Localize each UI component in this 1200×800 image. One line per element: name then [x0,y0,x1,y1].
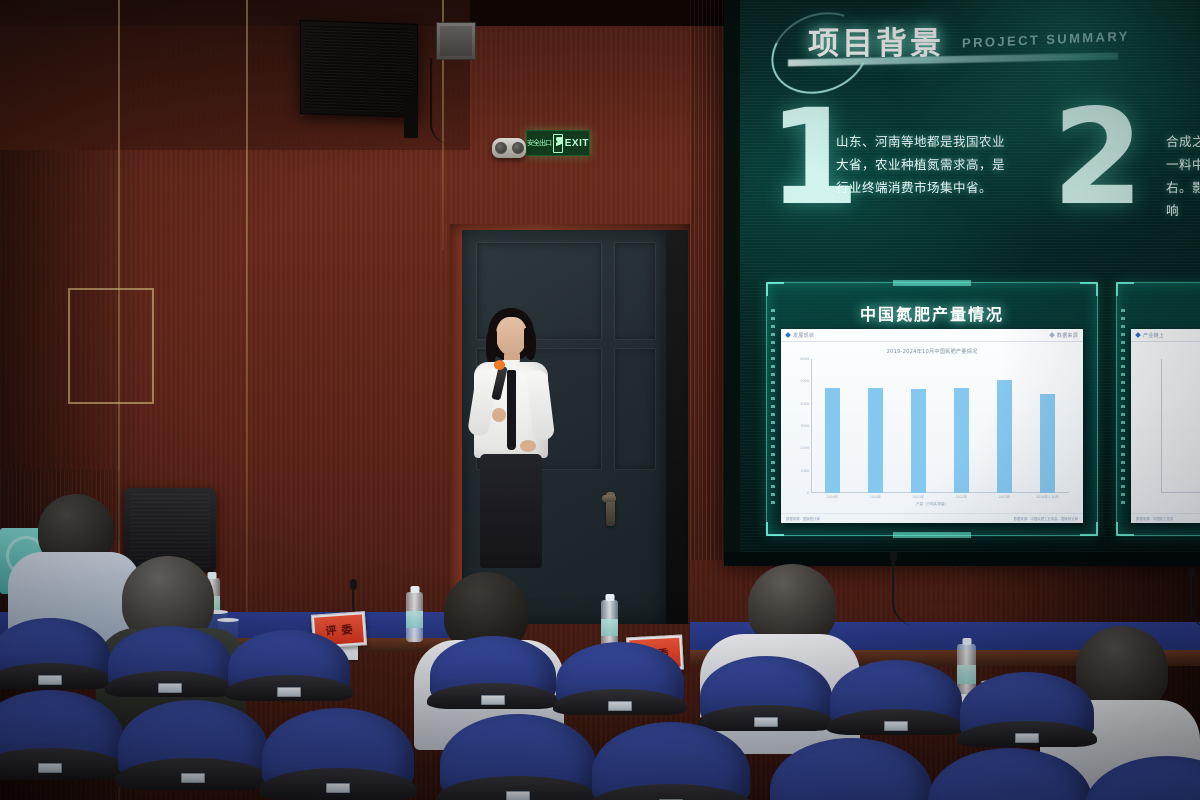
y-axis-tick: 0 [807,491,809,495]
auditorium-seat[interactable] [118,700,268,778]
x-axis-tick: 2021年 [913,494,925,499]
card-side-ticks [771,309,775,509]
auditorium-seat[interactable] [700,656,832,722]
chart-bar [868,388,883,493]
exit-sign-label-en: EXIT [565,138,589,149]
point-text: 合成之一料中右。影响 [1166,130,1200,223]
y-axis-tick: 2000 [800,446,809,450]
chart-bar [825,388,840,493]
sheet-footer-2: 数据来源：中国化工信息 [1131,513,1200,523]
report-sheet: 发展现状 数据来源 2019-2024年10月中国氮肥产量情况 01000200… [781,329,1083,523]
y-axis-tick: 4000 [800,402,809,406]
auditorium-seat[interactable] [1084,756,1200,800]
auditorium-seat[interactable] [556,642,684,706]
sheet-header-2: 产业链上 [1131,329,1200,342]
auditorium-seat[interactable] [0,690,124,768]
presenter-skirt [480,454,542,568]
footer-source-right: 数据来源：中国氮肥工业协会、国家统计局 [1014,516,1078,521]
chart-bar [954,388,969,493]
chart-title: 2019-2024年10月中国氮肥产量情况 [781,348,1083,355]
sheet-corner-label: 数据来源 [1050,332,1078,339]
chart-card-1: 中国氮肥产量情况 发展现状 数据来源 2019-2024年10月中国氮肥产量情况 [766,282,1098,536]
x-axis-tick: 2022年 [956,494,968,499]
diamond-bullet-icon [1049,332,1055,338]
card-notch-top [893,280,971,286]
diamond-bullet-icon [1135,332,1141,338]
door-gap [666,230,688,624]
gooseneck-microphone[interactable] [892,556,920,626]
auditorium-seat[interactable] [108,626,232,688]
wall-trim-rectangle [68,288,154,404]
point-text: 山东、河南等地都是我国农业大省，农业种植氮需求高，是行业终端消费市场集中省。 [836,130,1014,199]
card-notch-bottom [893,532,971,538]
slide-header: 项目背景 PROJECT SUMMARY [740,0,1200,82]
wall-panel-plate [436,22,476,60]
sheet-section-label: 发展现状 [786,332,814,339]
wall-seam [246,0,248,640]
auditorium-seat[interactable] [0,618,110,680]
microphone-head [494,360,505,370]
presenter-face [496,317,527,356]
chart-bar [997,380,1012,493]
slide-title-cn: 项目背景 [808,18,944,63]
wall-speaker [300,20,418,118]
chart-bar [911,389,926,493]
report-sheet-2: 产业链上 数据来源：中国化工信息 [1131,329,1200,523]
x-axis-tick: 2020年 [870,494,882,499]
speaker-grille [305,25,413,113]
x-axis-tick: 2019年 [827,494,839,499]
auditorium-seat[interactable] [440,714,596,796]
chart-card-title: 中国氮肥产量情况 [767,301,1097,325]
sheet-footer: 数据来源：国家统计局 数据来源：中国氮肥工业协会、国家统计局 [781,513,1083,523]
y-axis-tick: 3000 [800,424,809,428]
presenter-hand [492,408,506,422]
speaker-cable [430,58,450,144]
card-side-ticks [1121,309,1125,509]
auditorium-seat[interactable] [262,708,414,788]
auditorium-seat[interactable] [430,636,556,700]
y-axis-tick: 1000 [800,469,809,473]
presenter-tie [507,370,516,450]
door-handle[interactable] [606,492,615,526]
slide-point-2: 2 合成之一料中右。影响 [1052,104,1200,244]
y-axis-tick: 6000 [800,357,809,361]
auditorium-seat[interactable] [960,672,1094,738]
auditorium-seat[interactable] [228,630,350,692]
diamond-bullet-icon [785,332,791,338]
chart-card-title-2: 产业链上下游 [1117,301,1200,325]
slide-content: 项目背景 PROJECT SUMMARY 1 山东、河南等地都是我国农业大省，农… [740,0,1200,552]
water-bottle[interactable] [406,592,423,642]
footer-source-left: 数据来源：国家统计局 [786,516,820,521]
slide-point-1: 1 山东、河南等地都是我国农业大省，农业种植氮需求高，是行业终端消费市场集中省。 [750,104,1030,244]
auditorium-seat[interactable] [592,722,750,800]
y-axis-tick: 5000 [800,379,809,383]
sheet-section-label-2: 产业链上 [1136,332,1164,339]
auditorium-seat[interactable] [928,748,1092,800]
x-axis-tick: 2023年 [999,494,1011,499]
footer-source-left-2: 数据来源：中国化工信息 [1136,516,1173,521]
running-person-icon [553,134,563,153]
conference-photo: 安全出口 EXIT 项目背景 PROJECT SUMMARY 1 山东、河南等地… [0,0,1200,800]
x-axis [811,492,1069,493]
sheet-header: 发展现状 数据来源 [781,329,1083,342]
bar-chart-plot-2 [1161,359,1200,493]
exit-sign: 安全出口 EXIT [526,130,590,156]
y-axis [811,359,812,493]
slide-title-en: PROJECT SUMMARY [962,28,1130,50]
x-axis-tick: 2024年1-10月 [1036,494,1058,499]
point-number: 2 [1052,92,1144,224]
speaker-bracket [404,96,418,138]
auditorium-seat[interactable] [830,660,962,726]
emergency-light [492,138,526,158]
chart-legend: 产量（万吨实物量） [781,502,1083,507]
bar-chart-plot: 01000200030004000500060002019年2020年2021年… [811,359,1069,493]
exit-sign-label-cn: 安全出口 [527,140,551,147]
chart-bar [1040,394,1055,493]
auditorium-seat[interactable] [770,738,932,800]
chart-card-2: 产业链上下游 产业链上 数据来源：中国化工信息 [1116,282,1200,536]
